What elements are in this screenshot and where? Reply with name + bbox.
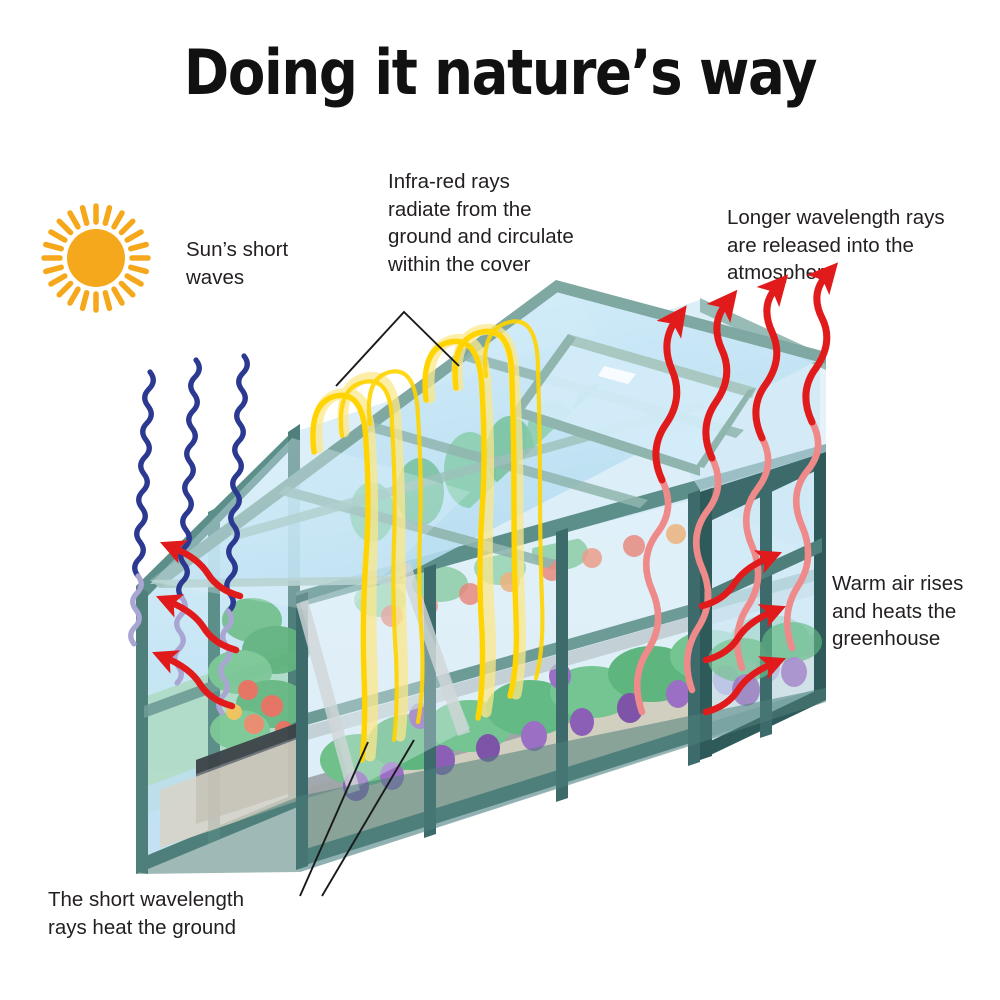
infographic-canvas: Doing it nature’s way xyxy=(0,0,1000,1000)
greenhouse-diagram xyxy=(0,0,1000,1000)
